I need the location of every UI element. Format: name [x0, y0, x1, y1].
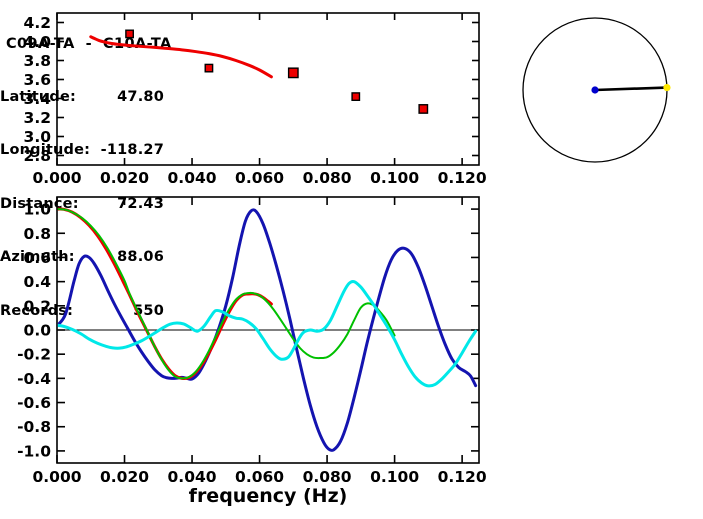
y-tick-label: 1.0 [24, 201, 52, 219]
x-tick-label: 0.080 [303, 468, 352, 486]
x-axis-title: frequency (Hz) [189, 485, 348, 507]
azimuth-circle-inset [505, 8, 700, 180]
y-tick-label: 3.6 [24, 71, 51, 89]
x-tick-label: 0.040 [168, 169, 217, 187]
y-tick-label: 0.2 [24, 297, 51, 315]
x-tick-label: 0.020 [100, 468, 149, 486]
y-tick-label: 2.8 [24, 147, 51, 165]
y-tick-label: 3.4 [24, 90, 52, 108]
data-point-marker [205, 64, 212, 71]
x-tick-label: 0.040 [168, 468, 217, 486]
y-tick-label: 0.8 [24, 225, 51, 243]
x-tick-label: 0.000 [32, 169, 81, 187]
y-tick-label: 0.0 [24, 322, 52, 340]
center-station-dot [591, 86, 598, 93]
series-coherency-spectrum [57, 281, 476, 385]
y-tick-label: 3.0 [24, 128, 52, 146]
y-tick-label: -1.0 [17, 442, 51, 460]
series-reference-dispersion-curve [91, 37, 272, 77]
y-tick-label: -0.8 [17, 418, 51, 436]
data-point-marker [126, 30, 133, 37]
spectra-plot[interactable]: 0.0000.0200.0400.0600.0800.1000.120-1.0-… [0, 190, 500, 519]
azimuth-ray [595, 88, 667, 90]
azimuth-circle-panel [505, 8, 700, 180]
x-tick-label: 0.020 [100, 169, 149, 187]
data-point-marker [289, 68, 298, 77]
y-tick-label: -0.4 [17, 370, 51, 388]
y-tick-label: -0.2 [17, 346, 51, 364]
x-tick-label: 0.000 [32, 468, 81, 486]
y-tick-label: -0.6 [17, 394, 51, 412]
y-tick-label: 3.8 [24, 52, 51, 70]
spectra-plot-panel: 0.0000.0200.0400.0600.0800.1000.120-1.0-… [0, 190, 500, 519]
y-tick-label: 4.0 [24, 33, 52, 51]
data-point-marker [352, 93, 359, 100]
x-tick-label: 0.060 [235, 468, 284, 486]
y-tick-label: 4.2 [24, 14, 51, 32]
y-tick-label: 0.6 [24, 249, 51, 267]
y-tick-label: 3.2 [24, 109, 51, 127]
y-tick-label: 0.4 [24, 273, 52, 291]
figure-canvas: 0.0000.0200.0400.0600.0800.1000.1202.83.… [0, 0, 703, 519]
data-point-marker [419, 105, 427, 113]
x-tick-label: 0.060 [235, 169, 284, 187]
dispersion-plot[interactable]: 0.0000.0200.0400.0600.0800.1000.1202.83.… [0, 0, 500, 190]
x-tick-label: 0.120 [438, 169, 487, 187]
x-tick-label: 0.100 [370, 468, 419, 486]
series-synthetic-real-spectrum [57, 209, 271, 379]
x-tick-label: 0.120 [438, 468, 487, 486]
dispersion-plot-panel: 0.0000.0200.0400.0600.0800.1000.1202.83.… [0, 0, 500, 190]
plot-frame [57, 13, 479, 165]
x-tick-label: 0.100 [370, 169, 419, 187]
x-tick-label: 0.080 [303, 169, 352, 187]
paired-station-dot [663, 84, 670, 91]
